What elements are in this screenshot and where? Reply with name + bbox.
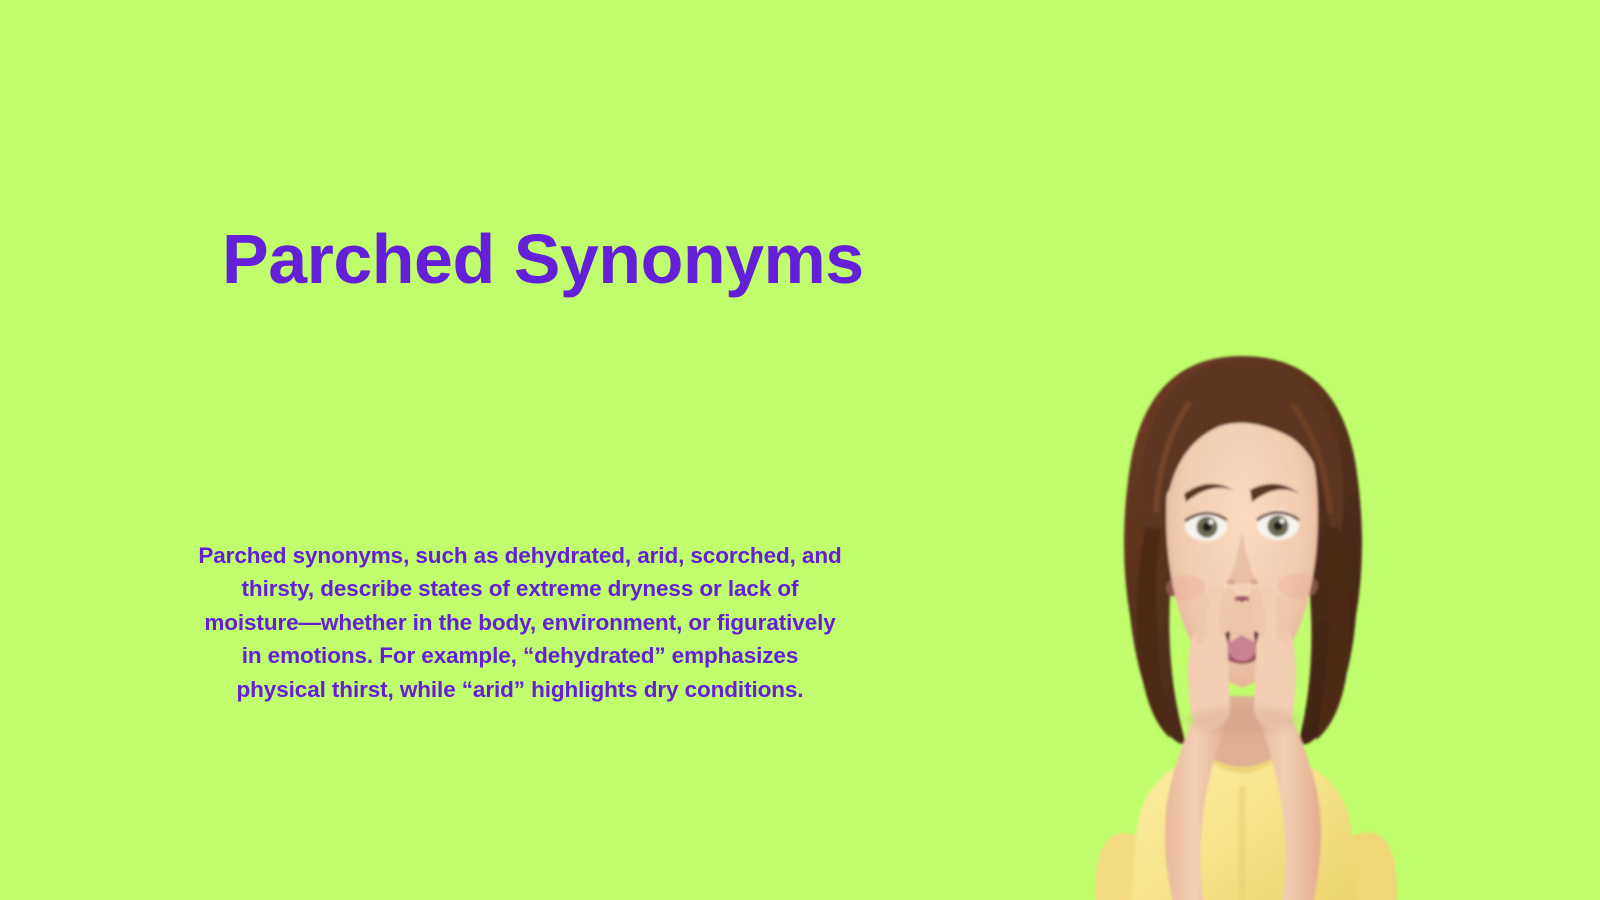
nostril-right	[1250, 579, 1258, 584]
slide-canvas: Parched Synonyms Parched synonyms, such …	[0, 0, 1600, 900]
surprised-woman-photo	[980, 316, 1500, 900]
body-paragraph: Parched synonyms, such as dehydrated, ar…	[196, 539, 844, 706]
surprised-woman-illustration	[980, 316, 1500, 900]
eye-highlight-left	[1209, 520, 1214, 525]
text-column: Parched Synonyms Parched synonyms, such …	[0, 0, 1040, 900]
nostril-left	[1227, 579, 1235, 584]
cheek-right	[1278, 573, 1318, 599]
eye-highlight-right	[1280, 519, 1285, 524]
page-title: Parched Synonyms	[222, 222, 864, 296]
chin-shadow	[1184, 706, 1300, 734]
cheek-left	[1166, 575, 1206, 601]
